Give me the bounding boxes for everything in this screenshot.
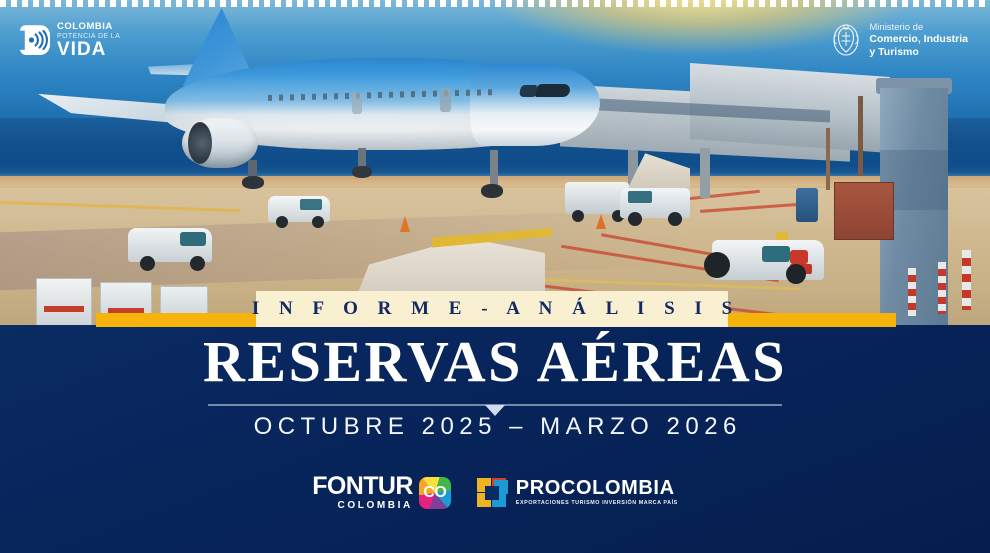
coat-of-arms-icon: [832, 23, 860, 57]
colombia-waves-icon: [20, 25, 50, 55]
footer-logo-row: FONTUR COLOMBIA CO PROCOLOMBIA EXPORTACI…: [0, 474, 990, 511]
safety-post: [908, 268, 916, 316]
cargo-crate-stripe: [44, 306, 84, 312]
aircraft-door: [352, 92, 362, 114]
eyebrow-text: I N F O R M E - A N Á L I S I S: [244, 298, 739, 320]
vehicle-window: [300, 199, 322, 210]
ministerio-line3: y Turismo: [869, 46, 968, 58]
co-country-brand-letters: CO: [419, 477, 451, 509]
vehicle-window: [628, 191, 652, 203]
fontur-name: FONTUR: [312, 474, 413, 499]
vehicle-wheel: [572, 210, 584, 222]
report-period: OCTUBRE 2025 – MARZO 2026: [0, 413, 990, 441]
procolombia-tagline: EXPORTACIONES TURISMO INVERSIÓN MARCA PA…: [516, 501, 678, 506]
light-mast: [858, 96, 863, 176]
vehicle-window: [762, 246, 790, 262]
logo-procolombia: PROCOLOMBIA EXPORTACIONES TURISMO INVERS…: [477, 478, 678, 508]
logo-ministerio-comercio-industria-turismo: Ministerio de Comercio, Industria y Turi…: [832, 22, 968, 58]
vehicle-wheel: [190, 256, 205, 271]
co-country-brand-icon: CO: [419, 477, 451, 509]
vehicle-window: [180, 232, 206, 246]
report-cover: COLOMBIA POTENCIA DE LA VIDA Ministerio …: [0, 0, 990, 553]
aircraft-landing-gear-wheel: [242, 176, 264, 189]
colombia-waves-icon-svg: [26, 29, 48, 51]
vehicle-wheel: [276, 216, 288, 228]
aircraft-nose-gear-wheel: [481, 184, 503, 198]
light-mast: [826, 128, 830, 190]
vehicle-wheel: [704, 252, 730, 278]
aircraft-engine-intake: [188, 122, 212, 164]
procolombia-pinwheel-icon: [477, 478, 507, 508]
procolombia-name: PROCOLOMBIA: [516, 478, 678, 498]
aircraft-nose: [470, 64, 600, 146]
vehicle-wheel: [628, 212, 642, 226]
apron-barrel: [796, 188, 818, 222]
top-dashed-border: [0, 0, 990, 7]
fontur-sub: COLOMBIA: [312, 501, 413, 511]
traffic-cone: [400, 216, 410, 232]
cargo-crate: [36, 278, 92, 325]
eyebrow-banner: I N F O R M E - A N Á L I S I S: [256, 291, 728, 327]
aircraft-nose-gear: [490, 150, 498, 188]
vehicle-wheel: [668, 212, 682, 226]
vehicle-marking: [790, 250, 808, 264]
traffic-cone: [596, 214, 606, 229]
aircraft-landing-gear-wheel: [352, 166, 372, 178]
title-divider: [208, 404, 782, 407]
ministerio-line2: Comercio, Industria: [869, 33, 968, 45]
cargo-container: [834, 182, 894, 240]
safety-post: [962, 250, 971, 310]
aircraft-cockpit-window: [534, 84, 571, 97]
colombia-logo-line1: COLOMBIA: [57, 22, 120, 32]
vehicle-wheel: [140, 256, 155, 271]
safety-post: [938, 262, 946, 314]
page-title: RESERVAS AÉREAS: [0, 333, 990, 391]
vehicle-wheel: [312, 216, 324, 228]
aircraft-door: [440, 88, 451, 112]
vehicle-wheel: [786, 264, 806, 284]
colombia-logo-line3: VIDA: [57, 41, 120, 59]
logo-fontur: FONTUR COLOMBIA CO: [312, 474, 451, 511]
logo-colombia-potencia-de-la-vida: COLOMBIA POTENCIA DE LA VIDA: [20, 22, 120, 59]
jet-bridge-support: [700, 148, 710, 198]
ministerio-line1: Ministerio de: [869, 22, 968, 33]
